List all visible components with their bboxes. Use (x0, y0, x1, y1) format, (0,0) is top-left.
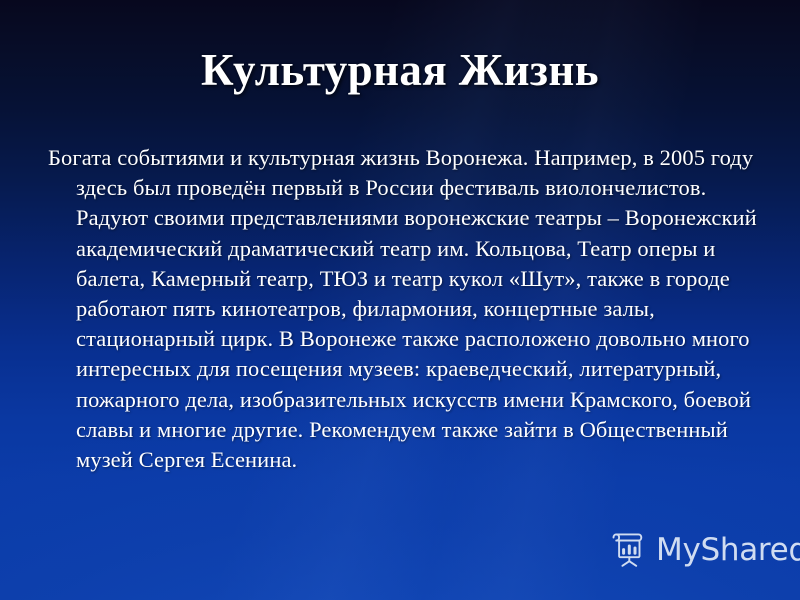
presentation-slide: Культурная Жизнь Богата событиями и куль… (0, 0, 800, 600)
slide-body-paragraph: Богата событиями и культурная жизнь Воро… (42, 143, 768, 475)
presentation-chart-icon (607, 530, 647, 570)
myshared-watermark: MyShared (607, 530, 800, 570)
slide-title: Культурная Жизнь (0, 44, 800, 96)
slide-body: Богата событиями и культурная жизнь Воро… (42, 143, 768, 475)
myshared-wordmark: MyShared (656, 533, 800, 567)
